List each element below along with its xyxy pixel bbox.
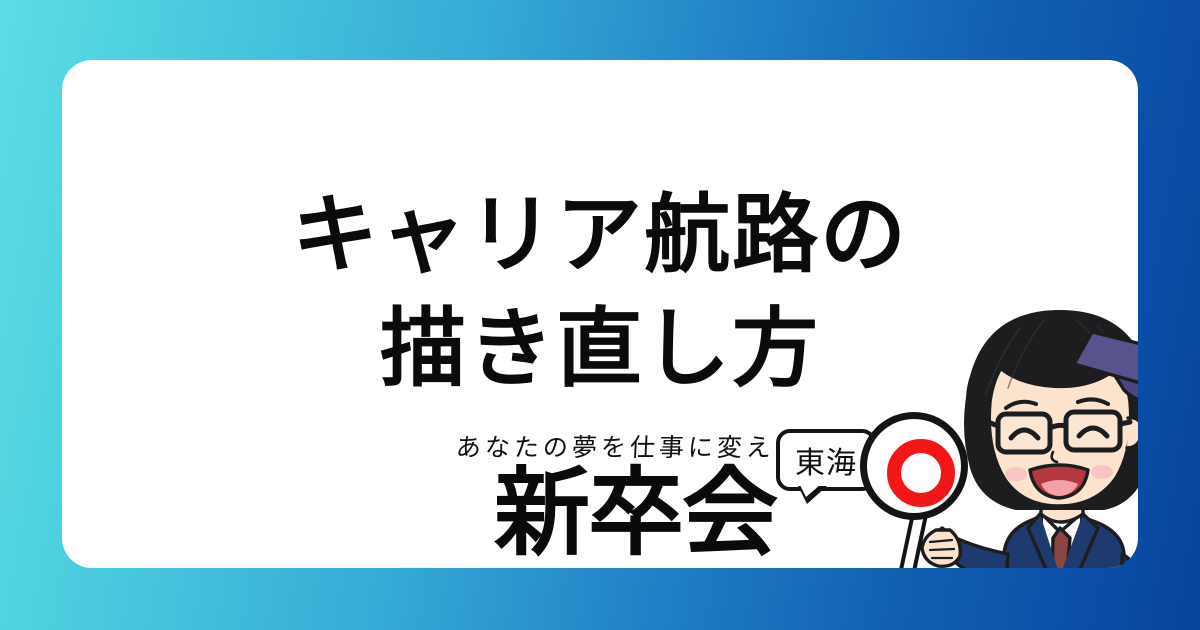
red-circle-icon <box>887 439 955 507</box>
og-image-canvas: キャリア航路の 描き直し方 あなたの夢を仕事に変える 新卒会 東海 <box>0 0 1200 630</box>
brand-name: 新卒会 <box>494 464 776 564</box>
content-card: キャリア航路の 描き直し方 あなたの夢を仕事に変える 新卒会 東海 <box>62 60 1138 568</box>
speech-bubble-tail-inner-icon <box>800 485 820 497</box>
paddle-disc-icon <box>860 412 968 520</box>
brand-tagline: あなたの夢を仕事に変える <box>455 428 804 464</box>
region-label: 東海 <box>780 433 872 487</box>
headline-line-1: キャリア航路の <box>62 178 1138 292</box>
maru-paddle-icon <box>860 412 980 568</box>
